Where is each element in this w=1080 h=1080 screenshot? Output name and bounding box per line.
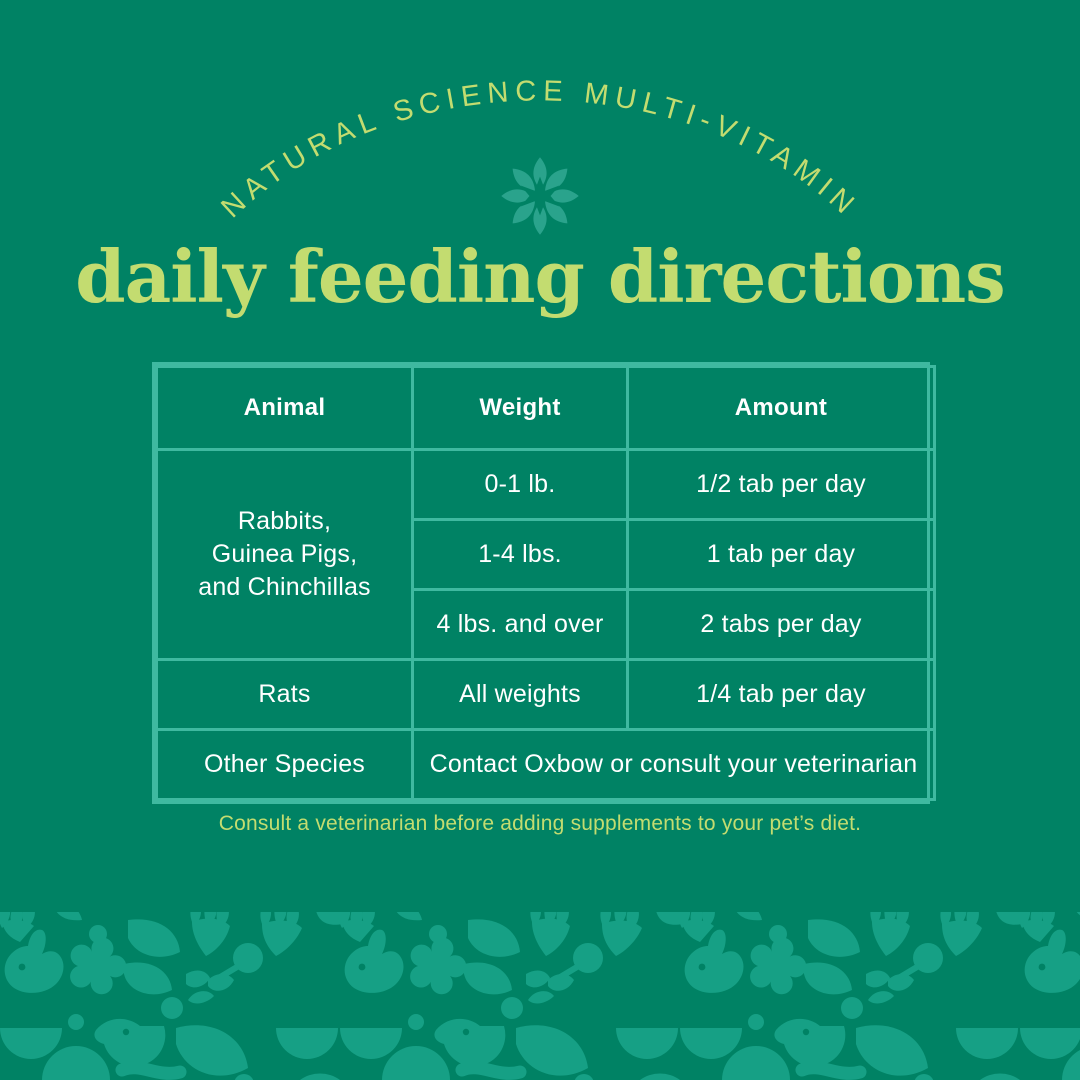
weight-cell: 0-1 lb. <box>413 450 628 520</box>
amount-cell: 2 tabs per day <box>628 590 935 660</box>
animal-cell-rats: Rats <box>157 660 413 730</box>
column-header-animal: Animal <box>157 367 413 450</box>
table-header-row: Animal Weight Amount <box>157 367 935 450</box>
table-row: Rabbits, Guinea Pigs, and Chinchillas 0-… <box>157 450 935 520</box>
amount-cell: 1 tab per day <box>628 520 935 590</box>
poster-canvas: NATURAL SCIENCE MULTI-VITAMIN daily feed… <box>0 0 1080 1080</box>
amount-cell: 1/4 tab per day <box>628 660 935 730</box>
other-species-note: Contact Oxbow or consult your veterinari… <box>413 730 935 800</box>
column-header-amount: Amount <box>628 367 935 450</box>
page-title: daily feeding directions <box>0 233 1080 321</box>
table-row: Rats All weights 1/4 tab per day <box>157 660 935 730</box>
animal-cell-small-pets: Rabbits, Guinea Pigs, and Chinchillas <box>157 450 413 660</box>
weight-cell: All weights <box>413 660 628 730</box>
animal-line: and Chinchillas <box>158 571 411 604</box>
table-row: Other Species Contact Oxbow or consult y… <box>157 730 935 800</box>
flower-rosette-icon <box>496 152 584 240</box>
decorative-pattern-band <box>0 912 1080 1080</box>
amount-cell: 1/2 tab per day <box>628 450 935 520</box>
animal-line: Rabbits, <box>158 505 411 538</box>
animal-cell-other-species: Other Species <box>157 730 413 800</box>
weight-cell: 1-4 lbs. <box>413 520 628 590</box>
weight-cell: 4 lbs. and over <box>413 590 628 660</box>
animal-line: Guinea Pigs, <box>158 538 411 571</box>
column-header-weight: Weight <box>413 367 628 450</box>
footnote-text: Consult a veterinarian before adding sup… <box>0 812 1080 836</box>
feeding-directions-table: Animal Weight Amount Rabbits, Guinea Pig… <box>152 362 930 804</box>
